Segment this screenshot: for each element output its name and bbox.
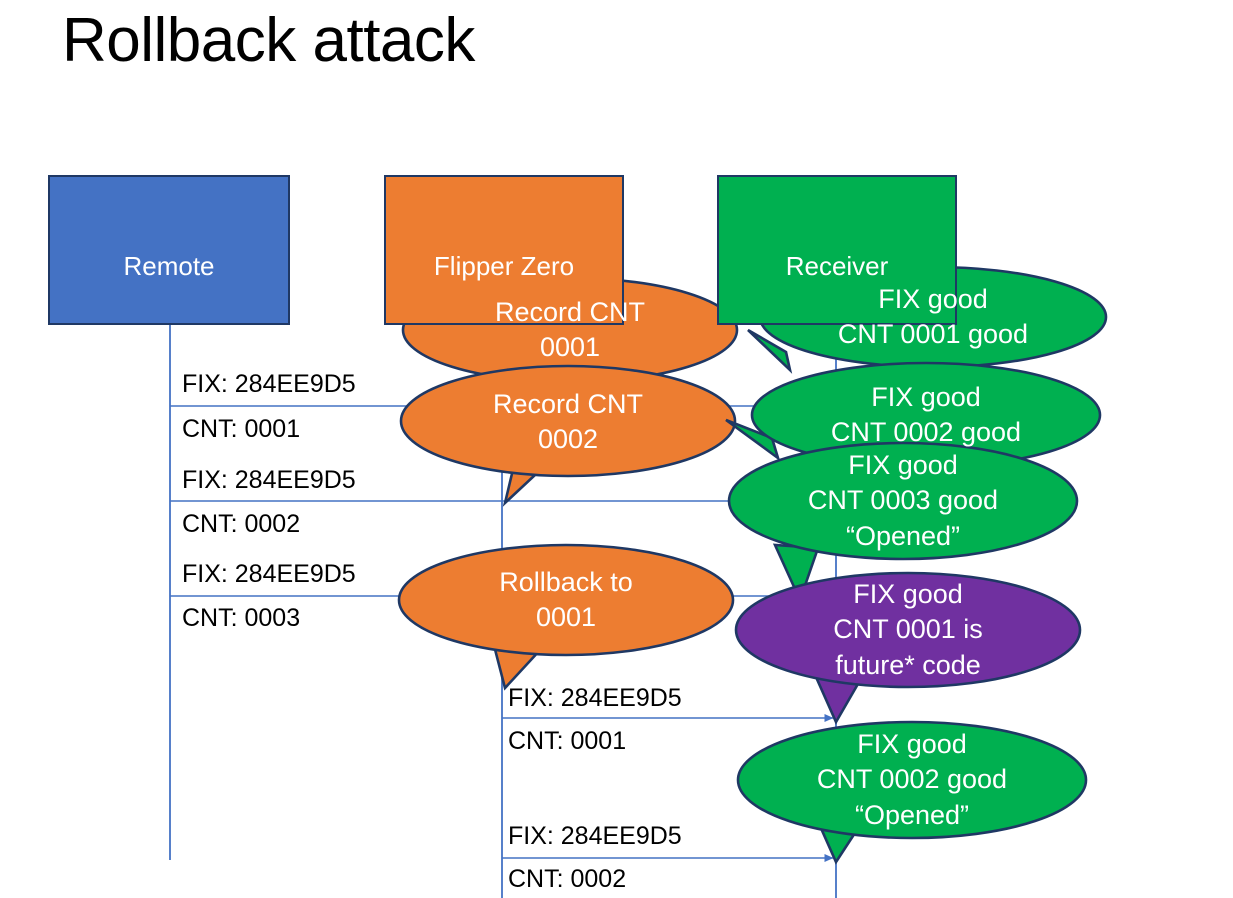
- actor-box-flipper[interactable]: Flipper Zero: [384, 175, 624, 325]
- message-label-m2-fix: FIX: 284EE9D5: [182, 468, 356, 493]
- message-label-m3-fix: FIX: 284EE9D5: [182, 562, 356, 587]
- actor-label-flipper: Flipper Zero: [434, 251, 574, 282]
- actor-box-receiver[interactable]: Receiver: [717, 175, 957, 325]
- message-label-m1-fix: FIX: 284EE9D5: [182, 372, 356, 397]
- callout-shape-rollback-0001[interactable]: [399, 545, 733, 688]
- callout-shape-fix-good-0002-opened[interactable]: [738, 722, 1086, 862]
- message-label-m2-cnt: CNT: 0002: [182, 512, 300, 537]
- message-label-m5-fix: FIX: 284EE9D5: [508, 824, 682, 849]
- actor-label-remote: Remote: [123, 251, 214, 282]
- message-label-m4-cnt: CNT: 0001: [508, 729, 626, 754]
- slide-canvas: Rollback attack Remote Flipper Zero Rece…: [0, 0, 1233, 898]
- callout-shapes-layer: [0, 0, 1233, 898]
- callout-shape-future-code[interactable]: [736, 573, 1080, 722]
- message-label-m4-fix: FIX: 284EE9D5: [508, 686, 682, 711]
- actor-box-remote[interactable]: Remote: [48, 175, 290, 325]
- message-label-m5-cnt: CNT: 0002: [508, 867, 626, 892]
- message-label-m3-cnt: CNT: 0003: [182, 606, 300, 631]
- actor-label-receiver: Receiver: [786, 251, 889, 282]
- message-label-m1-cnt: CNT: 0001: [182, 417, 300, 442]
- callout-shape-record-0002[interactable]: [401, 366, 735, 503]
